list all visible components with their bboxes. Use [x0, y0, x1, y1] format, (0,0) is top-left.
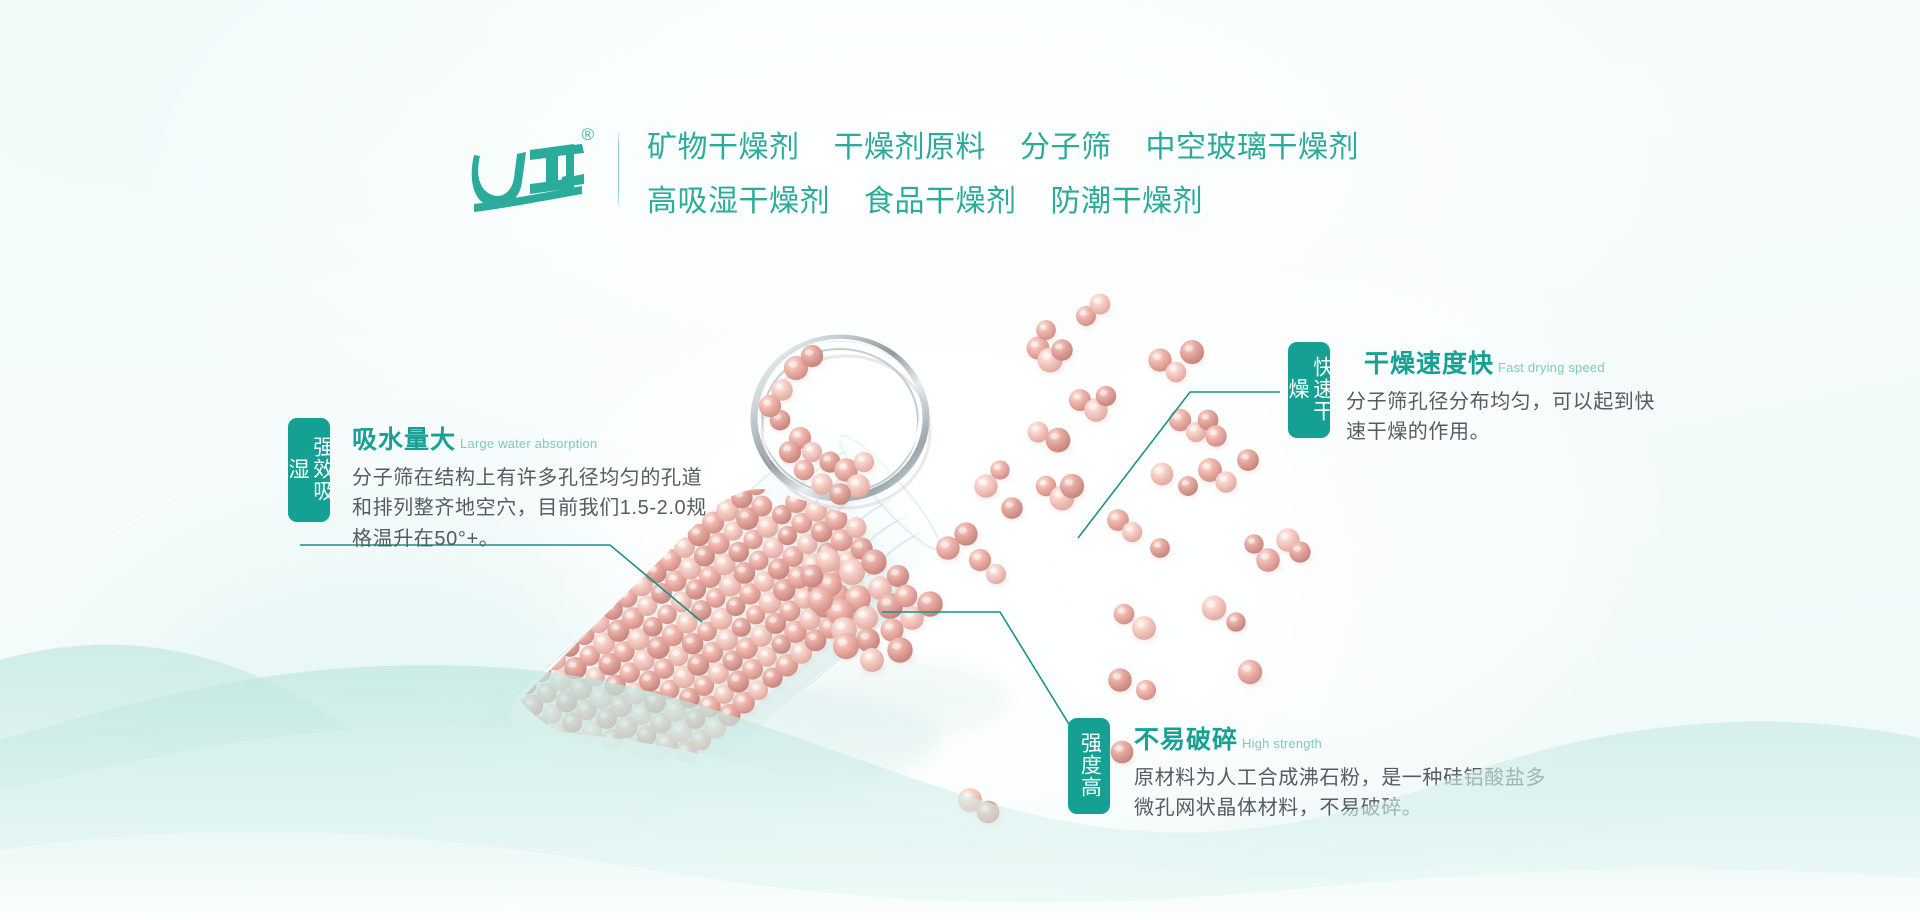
keyword-nav: 矿物干燥剂 干燥剂原料 分子筛 中空玻璃干燥剂 高吸湿干燥剂 食品干燥剂 防潮干…	[647, 120, 1359, 220]
nav-item-molecular-sieve[interactable]: 分子筛	[1020, 122, 1112, 166]
badge-strength: 强度高	[1068, 718, 1110, 814]
callout-subtitle-strength: High strength	[1242, 736, 1322, 751]
promo-banner: ® 矿物干燥剂 干燥剂原料 分子筛 中空玻璃干燥剂 高吸湿干燥剂 食品干燥剂 防…	[0, 0, 1920, 920]
callout-absorption: 强效吸湿 吸水量大 Large water absorption 分子筛在结构上…	[288, 418, 716, 554]
bottle-cap-ring	[754, 338, 930, 508]
keyword-nav-row-1: 矿物干燥剂 干燥剂原料 分子筛 中空玻璃干燥剂	[647, 122, 1359, 166]
keyword-nav-row-2: 高吸湿干燥剂 食品干燥剂 防潮干燥剂	[647, 176, 1359, 220]
background-glow	[980, 260, 1600, 780]
callout-title-absorption: 吸水量大	[352, 420, 456, 456]
callout-subtitle-absorption: Large water absorption	[460, 436, 597, 451]
badge-absorption: 强效吸湿	[288, 418, 330, 522]
leader-line-strength	[882, 612, 1080, 742]
callout-subtitle-speed: Fast drying speed	[1498, 360, 1605, 375]
leader-line-absorption	[300, 545, 702, 622]
nav-item-food-desiccant[interactable]: 食品干燥剂	[864, 176, 1017, 220]
registered-trademark-icon: ®	[581, 126, 594, 143]
leader-line-speed	[1078, 392, 1280, 538]
logo-icon	[470, 124, 590, 216]
header-divider	[618, 132, 619, 208]
nav-item-desiccant-raw-material[interactable]: 干燥剂原料	[834, 122, 987, 166]
wave-decoration	[0, 620, 1920, 920]
nav-item-moisture-proof-desiccant[interactable]: 防潮干燥剂	[1051, 176, 1204, 220]
callout-text-absorption: 分子筛在结构上有许多孔径均匀的孔道和排列整齐地空穴，目前我们1.5-2.0规格温…	[346, 463, 716, 554]
badge-speed: 快速干燥	[1288, 342, 1330, 438]
callout-title-speed: 干燥速度快	[1364, 344, 1494, 380]
background-glow	[120, 560, 640, 890]
callout-text-strength: 原材料为人工合成沸石粉，是一种硅铝酸盐多微孔网状晶体材料，不易破碎。	[1126, 763, 1546, 824]
site-header: ® 矿物干燥剂 干燥剂原料 分子筛 中空玻璃干燥剂 高吸湿干燥剂 食品干燥剂 防…	[470, 120, 1359, 220]
brand-logo[interactable]: ®	[470, 124, 590, 216]
nav-item-insulating-glass-desiccant[interactable]: 中空玻璃干燥剂	[1146, 122, 1360, 166]
nav-item-high-absorption-desiccant[interactable]: 高吸湿干燥剂	[647, 176, 830, 220]
nav-item-mineral-desiccant[interactable]: 矿物干燥剂	[647, 122, 800, 166]
callout-strength: 强度高 不易破碎 High strength 原材料为人工合成沸石粉，是一种硅铝…	[1068, 718, 1546, 824]
callout-text-speed: 分子筛孔径分布均匀，可以起到快速干燥的作用。	[1346, 387, 1666, 448]
callout-title-strength: 不易破碎	[1134, 720, 1238, 756]
callout-speed: 快速干燥 干燥速度快 Fast drying speed 分子筛孔径分布均匀，可…	[1288, 342, 1666, 448]
